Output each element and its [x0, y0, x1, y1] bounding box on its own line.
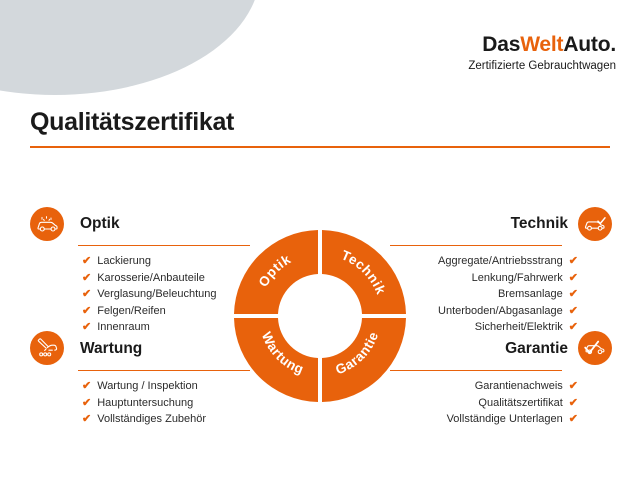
list-item-label: Lackierung — [97, 253, 151, 270]
list-item: ✔Vollständiges Zubehör — [82, 411, 280, 428]
check-icon: ✔ — [82, 303, 91, 320]
title-area: Qualitätszertifikat — [30, 108, 610, 148]
decorative-gray-blob — [0, 0, 260, 95]
section-wartung-title: Wartung — [80, 340, 142, 358]
list-item-label: Hauptuntersuchung — [97, 395, 193, 412]
shield-car-orbit-icon — [297, 289, 343, 344]
check-icon: ✔ — [569, 286, 578, 303]
check-icon: ✔ — [82, 286, 91, 303]
check-icon: ✔ — [82, 253, 91, 270]
quadrant-donut-diagram: Optik Technik Wartung Garantie — [232, 228, 408, 404]
logo-wordmark: DasWeltAuto. — [468, 34, 616, 55]
list-item-label: Felgen/Reifen — [97, 303, 166, 320]
check-icon: ✔ — [569, 270, 578, 287]
list-item-label: Karosserie/Anbauteile — [97, 270, 205, 287]
list-item-label: Verglasung/Beleuchtung — [97, 286, 216, 303]
section-wartung-divider — [78, 370, 250, 371]
list-item-label: Vollständige Unterlagen — [447, 411, 563, 428]
check-icon: ✔ — [569, 395, 578, 412]
check-icon: ✔ — [82, 270, 91, 287]
page-title: Qualitätszertifikat — [30, 108, 610, 137]
title-divider — [30, 146, 610, 148]
check-icon: ✔ — [82, 395, 91, 412]
list-item-label: Vollständiges Zubehör — [97, 411, 206, 428]
list-item-label: Unterboden/Abgasanlage — [438, 303, 563, 320]
check-icon: ✔ — [82, 411, 91, 428]
list-item: Vollständige Unterlagen✔ — [360, 411, 578, 428]
list-item-label: Lenkung/Fahrwerk — [472, 270, 563, 287]
list-item-label: Wartung / Inspektion — [97, 378, 197, 395]
section-garantie-title: Garantie — [505, 340, 568, 358]
list-item-label: Bremsanlage — [498, 286, 563, 303]
section-technik-title: Technik — [511, 215, 568, 233]
list-item-label: Qualitätszertifikat — [478, 395, 562, 412]
certificate-page: DasWeltAuto. Zertifizierte Gebrauchtwage… — [0, 0, 640, 480]
check-icon: ✔ — [569, 378, 578, 395]
check-icon: ✔ — [569, 411, 578, 428]
brand-logo: DasWeltAuto. Zertifizierte Gebrauchtwage… — [468, 34, 616, 73]
section-optik-divider — [78, 245, 250, 246]
section-technik-divider — [390, 245, 562, 246]
check-icon: ✔ — [569, 303, 578, 320]
section-optik-title: Optik — [80, 215, 120, 233]
logo-text-welt: Welt — [520, 33, 563, 56]
check-icon: ✔ — [82, 378, 91, 395]
check-icon: ✔ — [569, 253, 578, 270]
section-garantie-divider — [390, 370, 562, 371]
logo-text-auto: Auto. — [563, 33, 616, 56]
list-item-label: Garantienachweis — [475, 378, 563, 395]
logo-tagline: Zertifizierte Gebrauchtwagen — [468, 61, 616, 73]
list-item-label: Aggregate/Antriebsstrang — [438, 253, 563, 270]
logo-text-das: Das — [482, 33, 520, 56]
